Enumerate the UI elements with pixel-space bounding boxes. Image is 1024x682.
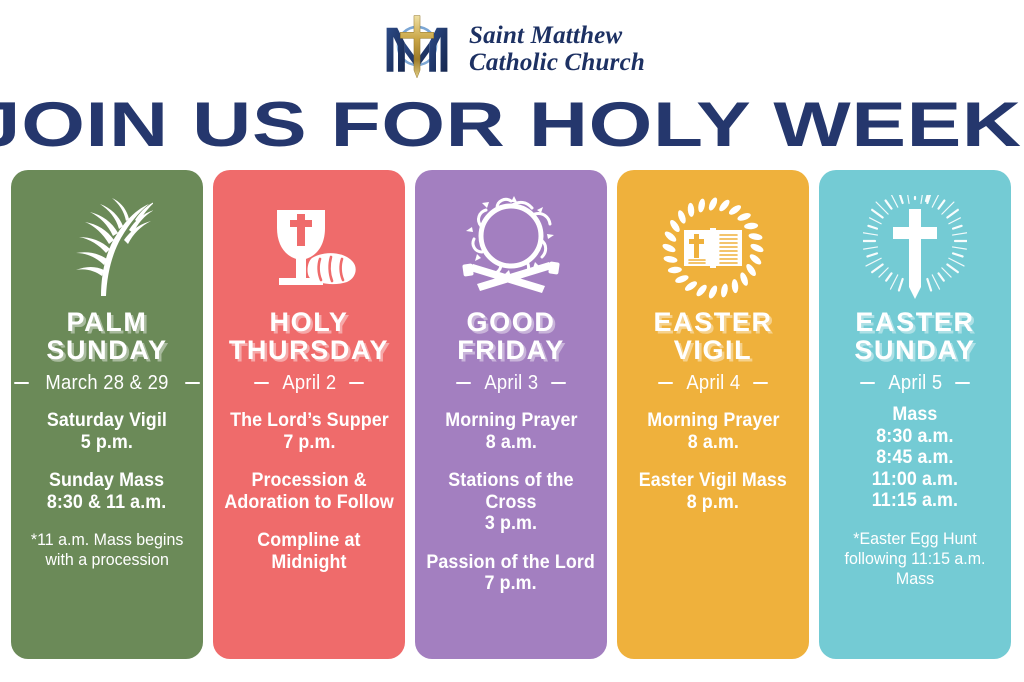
- schedule-card-easter-vigil[interactable]: EASTER VIGIL April 4 Morning Prayer 8 a.…: [617, 170, 809, 659]
- card-date: April 5: [888, 373, 942, 393]
- dash-left-icon: [860, 382, 875, 385]
- service-item: The Lord’s Supper 7 p.m.: [230, 410, 389, 453]
- service-note: *11 a.m. Mass begins with a procession: [31, 530, 183, 571]
- brand-wordmark: Saint Matthew Catholic Church: [469, 22, 645, 76]
- chalice-and-bread-icon: [257, 192, 361, 304]
- card-service-list: Morning Prayer 8 a.m. Stations of the Cr…: [415, 398, 607, 659]
- card-heading: GOOD FRIDAY: [451, 308, 571, 364]
- card-heading: HOLY THURSDAY: [223, 308, 395, 364]
- holy-week-schedule-cards: PALM SUNDAY March 28 & 29 Saturday Vigil…: [11, 170, 1013, 659]
- card-date-row: April 4: [658, 373, 769, 393]
- card-heading: EASTER SUNDAY: [848, 308, 981, 364]
- card-date-row: March 28 & 29: [14, 373, 200, 393]
- service-item: Stations of the Cross 3 p.m.: [425, 470, 598, 534]
- page-header: Saint Matthew Catholic Church JOIN US FO…: [0, 0, 1024, 157]
- card-date-row: April 3: [456, 373, 567, 393]
- saint-matthew-monogram-cross-logo-icon: [379, 11, 455, 87]
- schedule-card-holy-thursday[interactable]: HOLY THURSDAY April 2 The Lord’s Supper …: [213, 170, 405, 659]
- dash-left-icon: [254, 382, 269, 385]
- dash-right-icon: [955, 382, 970, 385]
- crown-of-thorns-and-nails-icon: [457, 192, 565, 304]
- dash-left-icon: [456, 382, 471, 385]
- card-date-row: April 5: [860, 373, 971, 393]
- card-service-list: The Lord’s Supper 7 p.m. Procession & Ad…: [213, 398, 405, 659]
- card-service-list: Mass 8:30 a.m. 8:45 a.m. 11:00 a.m. 11:1…: [819, 398, 1011, 659]
- brand-lockup: Saint Matthew Catholic Church: [379, 11, 645, 87]
- dash-left-icon: [14, 382, 29, 385]
- card-date-row: April 2: [254, 373, 365, 393]
- card-date: April 3: [484, 373, 538, 393]
- service-item: Compline at Midnight: [257, 530, 360, 573]
- service-item: Mass 8:30 a.m. 8:45 a.m. 11:00 a.m. 11:1…: [872, 404, 958, 511]
- card-date: April 2: [282, 373, 336, 393]
- card-service-list: Saturday Vigil 5 p.m. Sunday Mass 8:30 &…: [11, 398, 203, 659]
- dash-right-icon: [753, 382, 768, 385]
- card-date: March 28 & 29: [45, 373, 168, 393]
- dash-right-icon: [185, 382, 200, 385]
- dash-left-icon: [658, 382, 673, 385]
- dash-right-icon: [349, 382, 364, 385]
- service-item: Procession & Adoration to Follow: [224, 470, 393, 513]
- dash-right-icon: [551, 382, 566, 385]
- open-bible-in-laurel-wreath-icon: [660, 192, 766, 304]
- service-item: Morning Prayer 8 a.m.: [445, 410, 577, 453]
- card-date: April 4: [686, 373, 740, 393]
- service-item: Morning Prayer 8 a.m.: [647, 410, 779, 453]
- card-heading: PALM SUNDAY: [40, 308, 173, 364]
- card-service-list: Morning Prayer 8 a.m. Easter Vigil Mass …: [617, 398, 809, 659]
- service-item: Passion of the Lord 7 p.m.: [427, 552, 595, 595]
- service-note: *Easter Egg Hunt following 11:15 a.m. Ma…: [829, 529, 1002, 590]
- schedule-card-good-friday[interactable]: GOOD FRIDAY April 3 Morning Prayer 8 a.m…: [415, 170, 607, 659]
- radiant-cross-icon: [863, 192, 967, 304]
- schedule-card-easter-sunday[interactable]: EASTER SUNDAY April 5 Mass 8:30 a.m. 8:4…: [819, 170, 1011, 659]
- page-title: JOIN US FOR HOLY WEEK!: [0, 94, 1024, 157]
- card-heading: EASTER VIGIL: [647, 308, 778, 364]
- palm-branch-icon: [61, 192, 153, 304]
- service-item: Saturday Vigil 5 p.m.: [47, 410, 167, 453]
- service-item: Easter Vigil Mass 8 p.m.: [639, 470, 787, 513]
- schedule-card-palm-sunday[interactable]: PALM SUNDAY March 28 & 29 Saturday Vigil…: [11, 170, 203, 659]
- service-item: Sunday Mass 8:30 & 11 a.m.: [47, 470, 166, 513]
